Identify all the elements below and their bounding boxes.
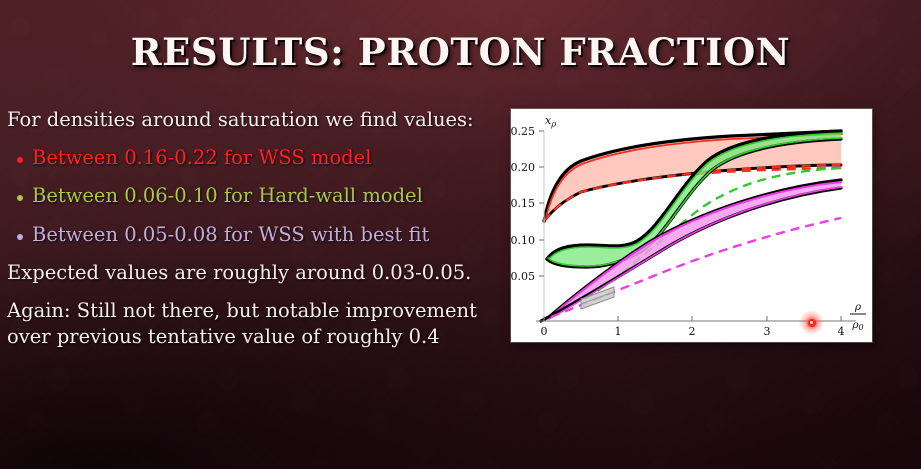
bullet-marker-purple: [17, 234, 23, 240]
y-tick-label-015: 0.15: [511, 197, 535, 210]
expected-values-text: Expected values are roughly around 0.03-…: [7, 261, 499, 286]
presentation-slide: RESULTS: PROTON FRACTION For densities a…: [0, 0, 921, 469]
x-tick-label-2: 2: [689, 325, 696, 338]
chart-svg: 0.25 0.20 0.15 0.10 0.05 0 1 2 3 4 xρ: [511, 109, 872, 342]
proton-fraction-chart: 0.25 0.20 0.15 0.10 0.05 0 1 2 3 4 xρ: [511, 109, 872, 342]
bullet-item-wss-bestfit: Between 0.05-0.08 for WSS with best fit: [7, 223, 499, 248]
y-tick-label-005: 0.05: [511, 270, 535, 283]
bullet-marker-green: [17, 195, 23, 201]
conclusion-line-1: Again: Still not there, but notable impr…: [7, 299, 499, 324]
x-axis-label: ρ ρ0: [850, 301, 866, 332]
y-tick-marks: [539, 131, 544, 276]
bullet-label-wss-bestfit: Between 0.05-0.08 for WSS with best fit: [32, 223, 429, 248]
bullet-label-hardwall: Between 0.06-0.10 for Hard-wall model: [32, 184, 423, 209]
bullet-label-wss: Between 0.16-0.22 for WSS model: [32, 146, 371, 171]
x-tick-label-3: 3: [764, 325, 771, 338]
slide-body: For densities around saturation we find …: [7, 108, 499, 363]
x-tick-label-4: 4: [838, 325, 845, 338]
x-tick-marks: [544, 316, 841, 321]
y-tick-label-010: 0.10: [511, 234, 535, 247]
x-tick-label-1: 1: [615, 325, 622, 338]
y-tick-label-020: 0.20: [511, 161, 535, 174]
bullet-item-hardwall: Between 0.06-0.10 for Hard-wall model: [7, 184, 499, 209]
bullet-item-wss: Between 0.16-0.22 for WSS model: [7, 146, 499, 171]
x-tick-label-0: 0: [541, 325, 548, 338]
svg-text:ρ0: ρ0: [851, 319, 863, 332]
slide-title: RESULTS: PROTON FRACTION: [0, 30, 921, 74]
y-axis-label: xρ: [545, 114, 556, 130]
conclusion-line-2: over previous tentative value of roughly…: [7, 325, 499, 350]
svg-text:ρ: ρ: [854, 301, 862, 313]
intro-text: For densities around saturation we find …: [7, 108, 499, 133]
bullet-marker-red: [17, 157, 23, 163]
y-tick-label-025: 0.25: [511, 125, 535, 138]
